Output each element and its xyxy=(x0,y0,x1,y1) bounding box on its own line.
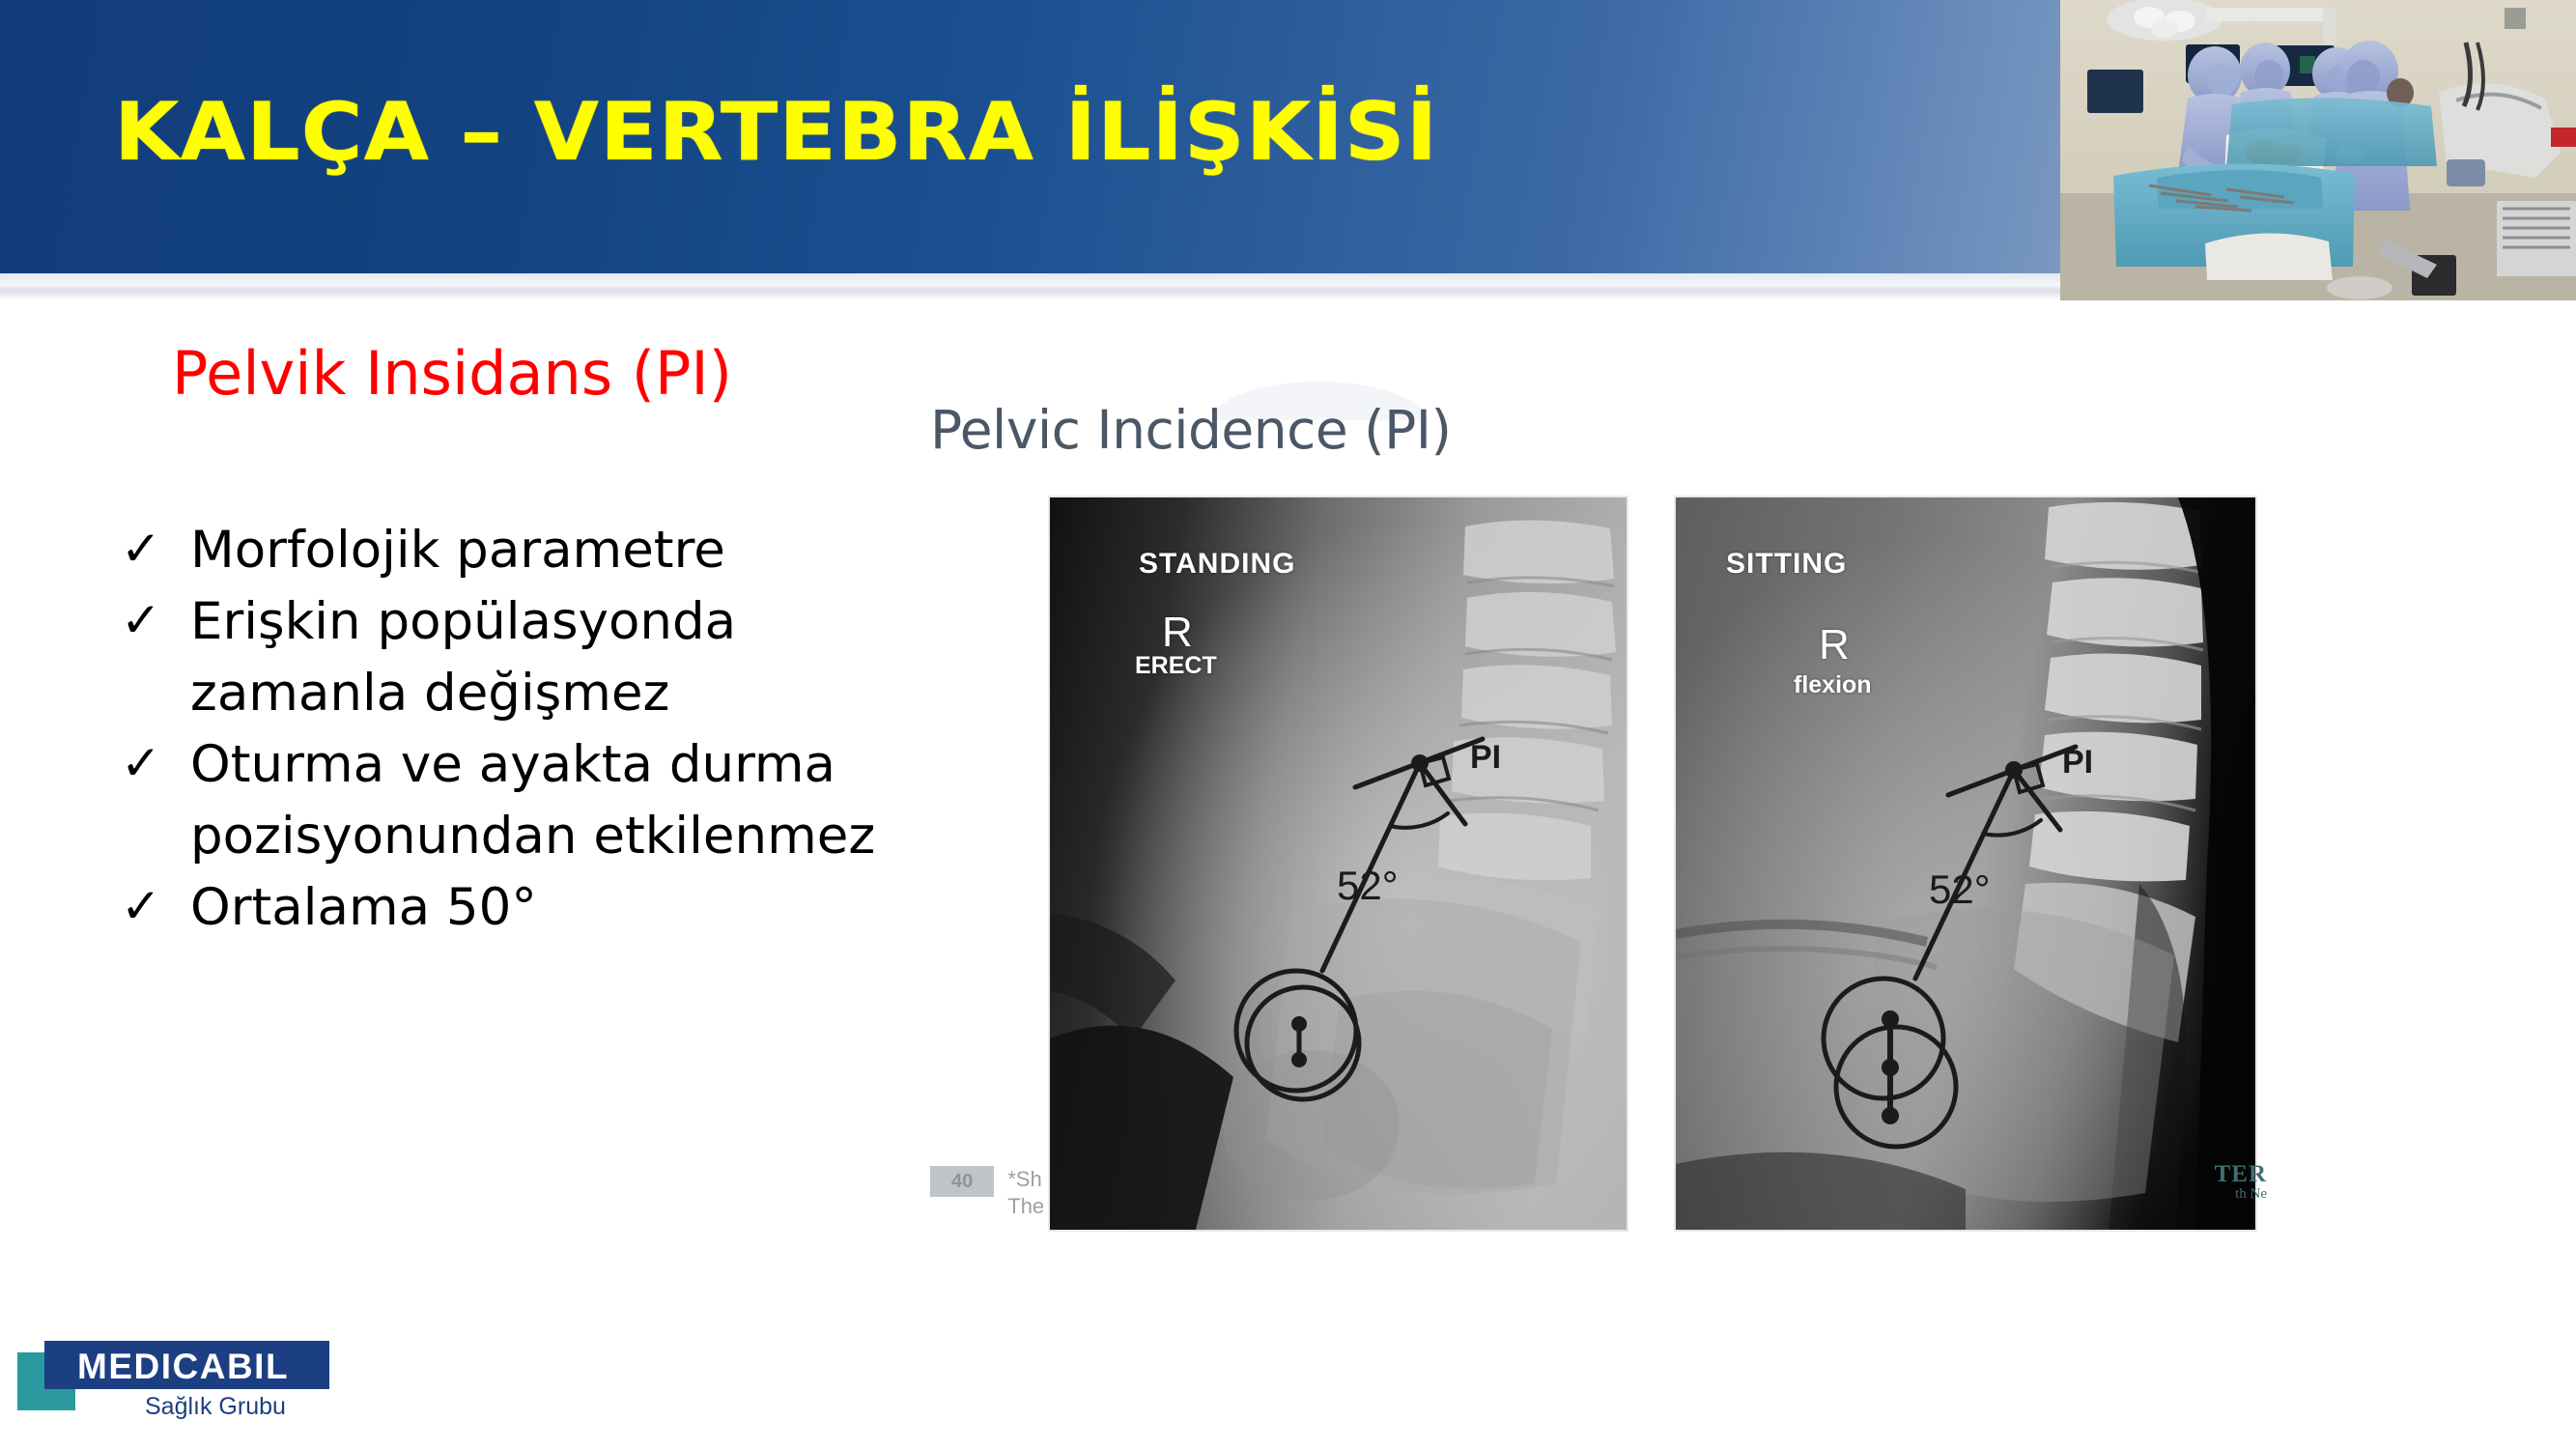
list-item: ✓ Morfolojik parametre xyxy=(121,517,951,584)
pi-angle-value: 52° xyxy=(1337,863,1399,909)
xray-sub-label: ERECT xyxy=(1135,652,1217,680)
xray-sub-label: flexion xyxy=(1794,671,1872,699)
list-item-label: Ortalama 50° xyxy=(190,874,537,942)
figure-slide-number-badge: 40 xyxy=(930,1166,994,1197)
list-item-label: Erişkin popülasyonda xyxy=(190,588,736,656)
xray-position-label: SITTING xyxy=(1726,548,1847,581)
list-item-continuation: pozisyonundan etkilenmez xyxy=(121,803,951,870)
pi-annotation-label: PI xyxy=(1470,739,1501,777)
watermark-line-2: th Ne xyxy=(2215,1187,2267,1203)
xray-panel-standing: STANDING R ERECT PI 52° xyxy=(1048,496,1628,1232)
xray-position-label: STANDING xyxy=(1139,548,1295,581)
page-title: KALÇA – VERTEBRA İLİŞKİSİ xyxy=(114,85,1438,179)
figure-caption: 40 *Sh The xyxy=(930,1166,1044,1219)
figure-title: Pelvic Incidence (PI) xyxy=(930,399,1451,461)
xray-side-label: R xyxy=(1162,609,1193,657)
xray-sitting-art xyxy=(1676,497,2257,1232)
checkmark-icon: ✓ xyxy=(121,517,190,581)
list-item: ✓ Ortalama 50° xyxy=(121,874,951,942)
list-item-label: Morfolojik parametre xyxy=(190,517,725,584)
bullet-list: ✓ Morfolojik parametre ✓ Erişkin popülas… xyxy=(121,517,951,946)
medicabil-logo: MEDICABIL Sağlık Grubu xyxy=(17,1335,336,1427)
checkmark-icon: ✓ xyxy=(121,731,190,795)
operating-room-photo xyxy=(2060,0,2576,300)
list-item-continuation: zamanla değişmez xyxy=(121,660,951,727)
figure-caption-text: *Sh The xyxy=(1007,1166,1044,1219)
logo-wordmark: MEDICABIL xyxy=(77,1347,289,1387)
watermark-line-1: TER xyxy=(2215,1162,2267,1187)
checkmark-icon: ✓ xyxy=(121,874,190,938)
pi-angle-value: 52° xyxy=(1929,867,1991,913)
xray-side-label: R xyxy=(1819,621,1850,669)
operating-room-photo-art xyxy=(2060,0,2576,300)
pi-annotation-label: PI xyxy=(2062,744,2093,781)
list-item-label: Oturma ve ayakta durma xyxy=(190,731,835,799)
section-subtitle: Pelvik Insidans (PI) xyxy=(172,338,732,409)
logo-tagline: Sağlık Grubu xyxy=(145,1393,286,1421)
list-item: ✓ Oturma ve ayakta durma xyxy=(121,731,951,799)
list-item-label: pozisyonundan etkilenmez xyxy=(190,803,875,870)
checkmark-icon: ✓ xyxy=(121,588,190,652)
pelvic-incidence-figure: Pelvic Incidence (PI) xyxy=(922,382,2275,1251)
list-item: ✓ Erişkin popülasyonda xyxy=(121,588,951,656)
figure-source-watermark: TER th Ne xyxy=(2215,1162,2267,1203)
list-item-label: zamanla değişmez xyxy=(190,660,669,727)
xray-panel-sitting: SITTING R flexion PI 52° xyxy=(1674,496,2257,1232)
